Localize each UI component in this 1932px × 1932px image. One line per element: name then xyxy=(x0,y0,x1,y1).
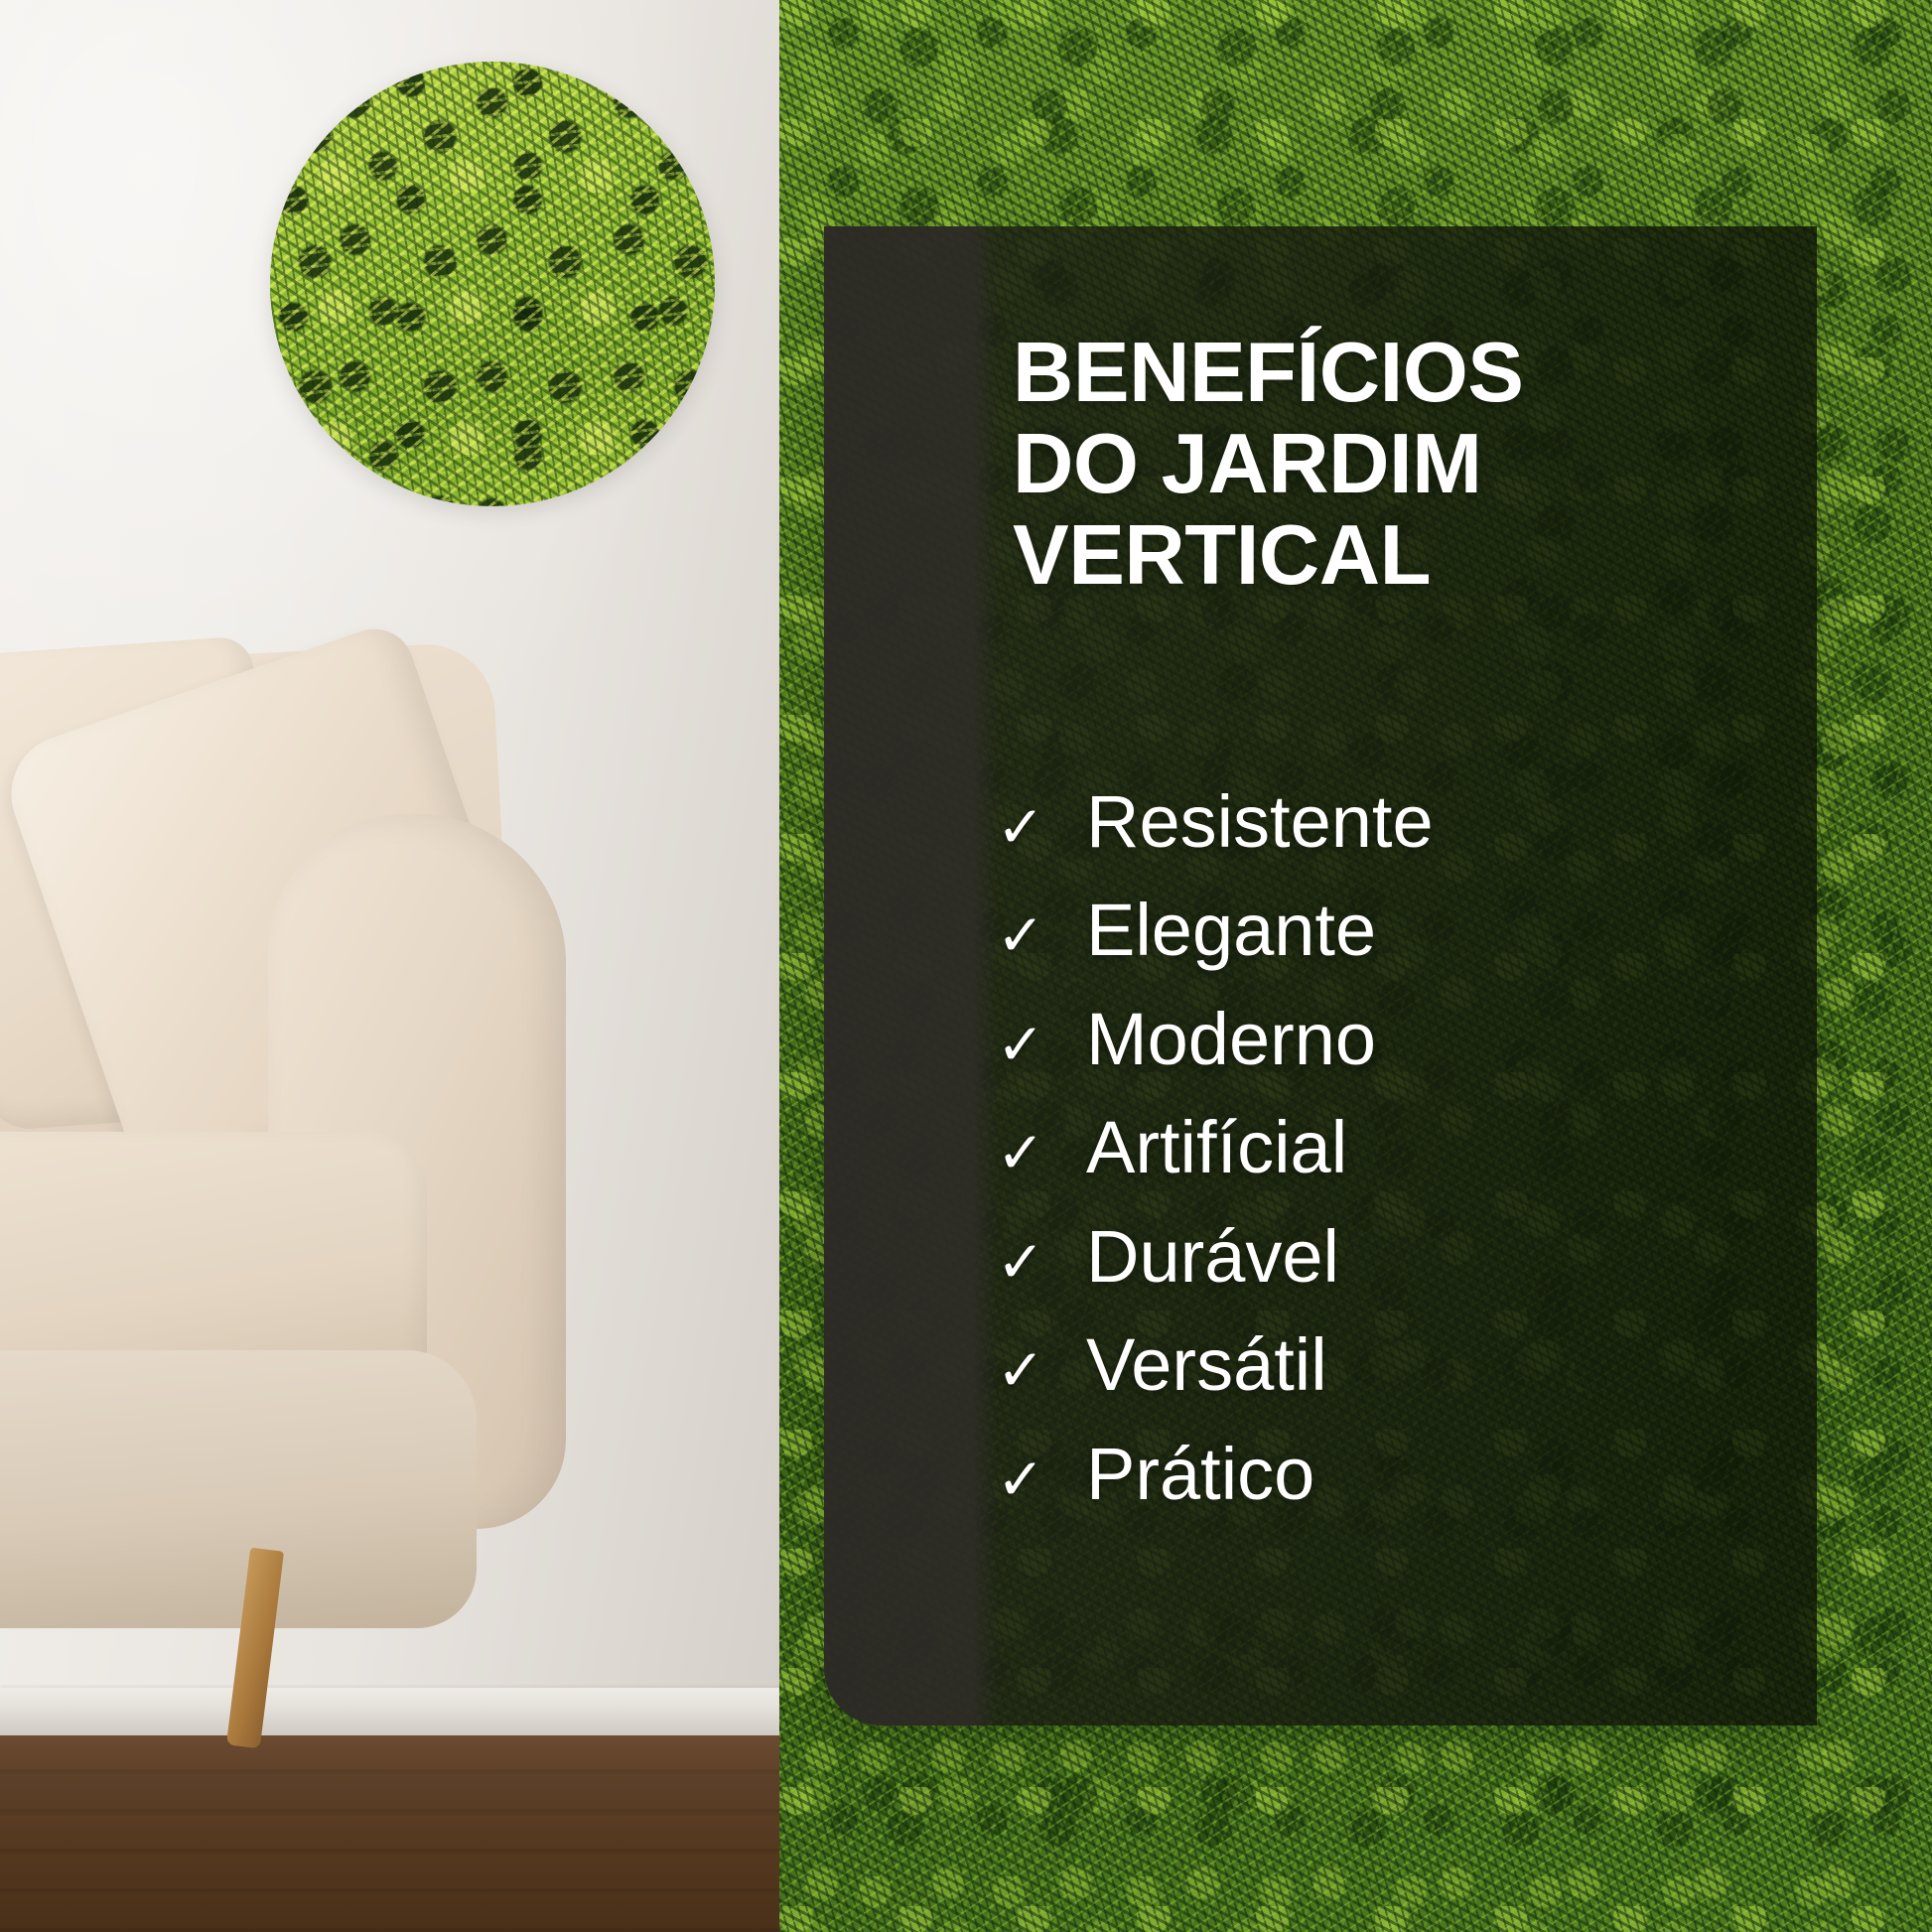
product-swatch-circle xyxy=(270,62,715,506)
benefit-label: Elegante xyxy=(1086,893,1376,967)
check-icon: ✓ xyxy=(993,907,1048,965)
benefit-label: Resistente xyxy=(1086,784,1434,859)
list-item: ✓ Resistente xyxy=(993,784,1886,859)
benefit-label: Durável xyxy=(1086,1219,1339,1294)
list-item: ✓ Elegante xyxy=(993,893,1886,967)
benefit-label: Moderno xyxy=(1086,1002,1376,1076)
list-item: ✓ Prático xyxy=(993,1437,1886,1511)
beige-sofa xyxy=(0,655,735,1767)
check-icon: ✓ xyxy=(993,1234,1048,1292)
headline-line-3: VERTICAL xyxy=(1013,510,1866,602)
check-icon: ✓ xyxy=(993,1125,1048,1182)
benefit-label: Versátil xyxy=(1086,1327,1327,1402)
benefit-label: Artifícial xyxy=(1086,1110,1347,1184)
list-item: ✓ Durável xyxy=(993,1219,1886,1294)
check-icon: ✓ xyxy=(993,1451,1048,1509)
promo-banner: BENEFÍCIOS DO JARDIM VERTICAL ✓ Resisten… xyxy=(0,0,1932,1932)
check-icon: ✓ xyxy=(993,1017,1048,1074)
list-item: ✓ Moderno xyxy=(993,1002,1886,1076)
benefits-list: ✓ Resistente ✓ Elegante ✓ Moderno ✓ Arti… xyxy=(993,784,1886,1545)
list-item: ✓ Artifícial xyxy=(993,1110,1886,1184)
headline-block: BENEFÍCIOS DO JARDIM VERTICAL xyxy=(1013,328,1866,601)
sofa-base xyxy=(0,1350,477,1628)
list-item: ✓ Versátil xyxy=(993,1327,1886,1402)
check-icon: ✓ xyxy=(993,1342,1048,1400)
benefit-label: Prático xyxy=(1086,1437,1314,1511)
check-icon: ✓ xyxy=(993,799,1048,857)
headline-line-2: DO JARDIM xyxy=(1013,419,1866,510)
page-title: BENEFÍCIOS DO JARDIM VERTICAL xyxy=(1013,328,1866,601)
headline-line-1: BENEFÍCIOS xyxy=(1013,328,1866,419)
